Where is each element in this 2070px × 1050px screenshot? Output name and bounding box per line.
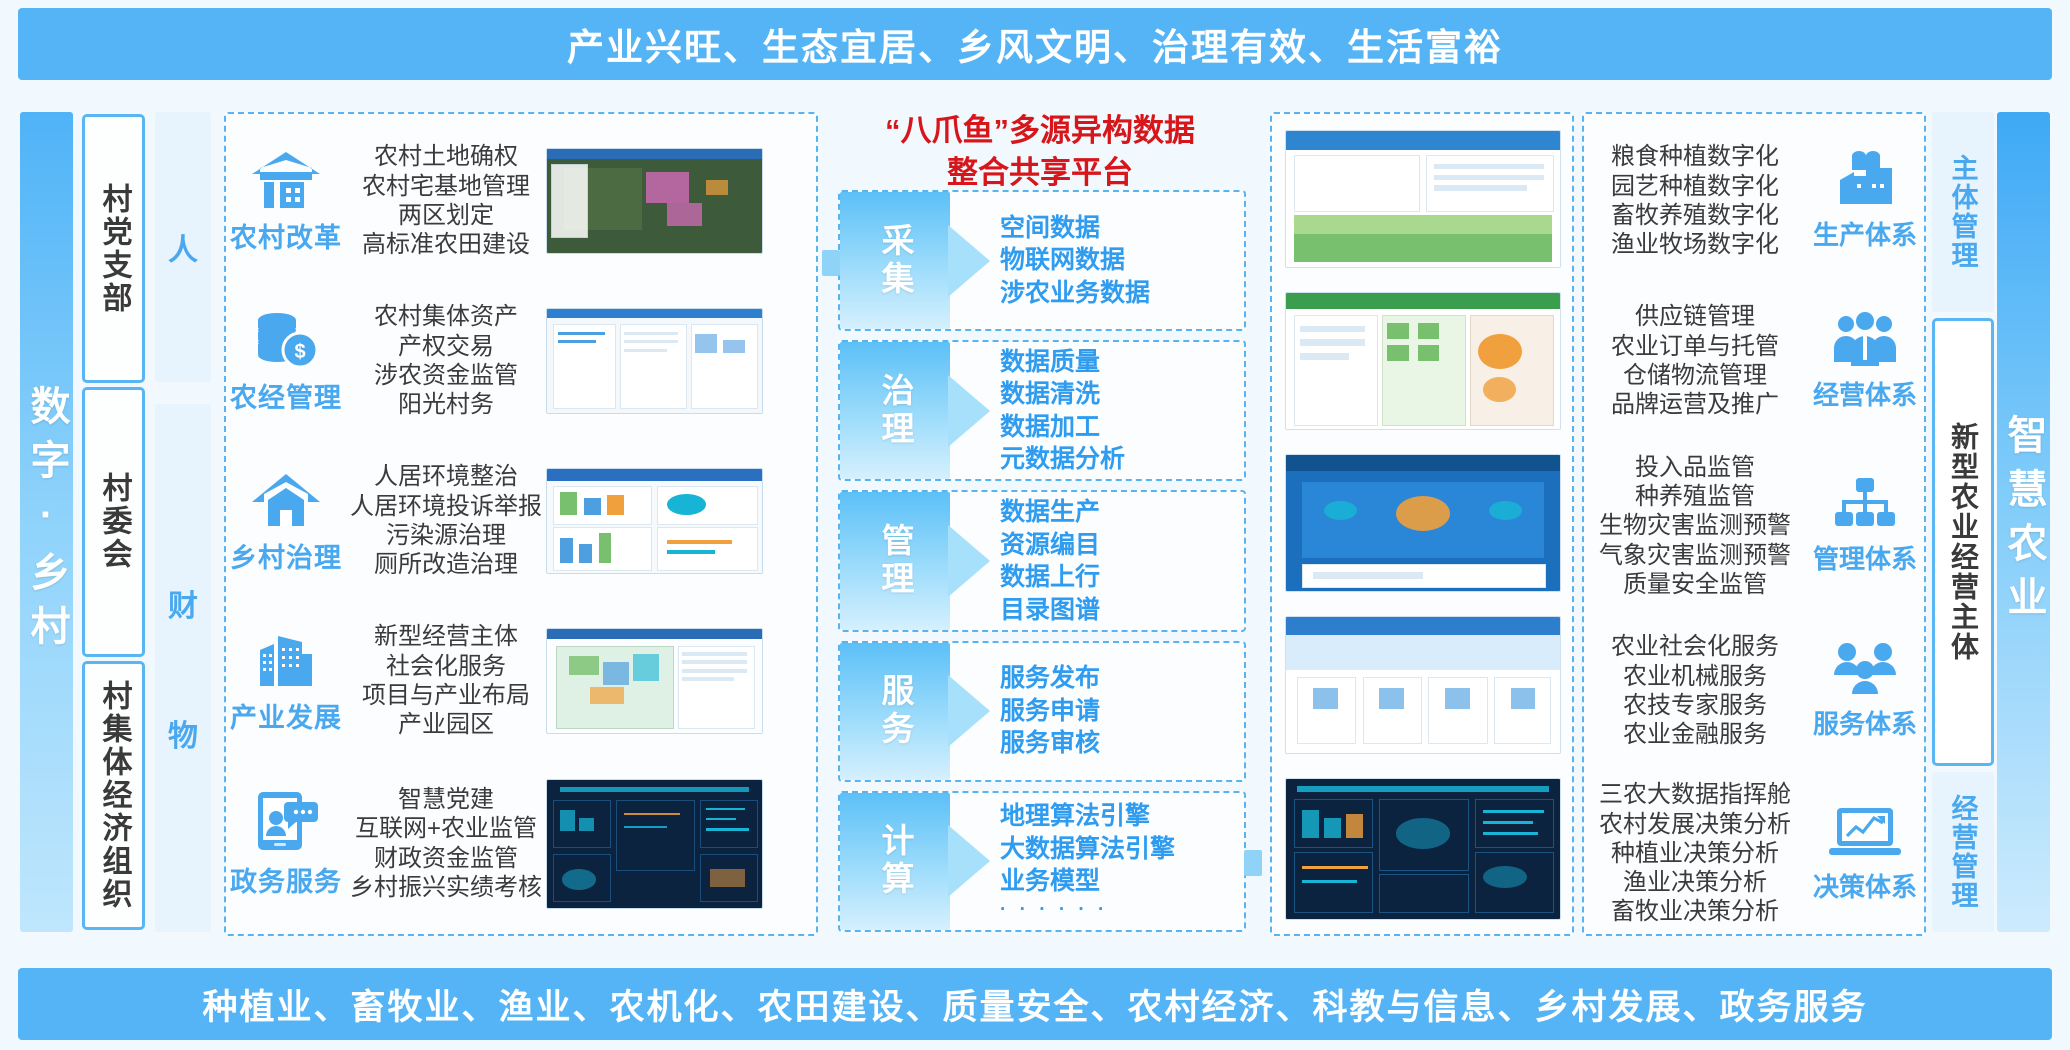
system-item: 种植业决策分析 bbox=[1584, 839, 1806, 868]
top-banner: 产业兴旺、生态宜居、乡风文明、治理有效、生活富裕 bbox=[18, 8, 2052, 80]
org-boxes-column: 村党支部 村委会 村集体经济组织 bbox=[82, 112, 145, 932]
org-box-collective-economy[interactable]: 村集体经济组织 bbox=[82, 661, 145, 930]
screenshot-thumbnail-agri-portal[interactable] bbox=[1285, 130, 1561, 268]
step-item: 数据质量 bbox=[1000, 346, 1244, 379]
module-icon-wrap: 农村改革 bbox=[226, 148, 346, 255]
step-item: 服务审核 bbox=[1000, 727, 1244, 760]
module-row-agri-economy[interactable]: $ 农经管理 农村集体资产 产权交易 涉农资金监管 阳光村务 bbox=[226, 286, 816, 436]
connector-left bbox=[822, 250, 840, 276]
bottom-banner-text: 种植业、畜牧业、渔业、农机化、农田建设、质量安全、农村经济、科教与信息、乡村发展… bbox=[202, 979, 1867, 1030]
step-tab-label: 服务 bbox=[871, 673, 919, 749]
step-items: 数据质量 数据清洗 数据加工 元数据分析 bbox=[950, 342, 1244, 479]
right-label-operation-management: 经营管理 bbox=[1932, 772, 1994, 932]
screenshot-thumbnail-big-data-cockpit[interactable] bbox=[1285, 778, 1561, 920]
module-item: 农村土地确权 bbox=[346, 142, 546, 171]
step-tab-label: 管理 bbox=[871, 523, 919, 599]
arrow-right-icon bbox=[948, 525, 990, 597]
arrow-right-icon bbox=[948, 675, 990, 747]
module-item: 产业园区 bbox=[346, 710, 546, 739]
module-item: 互联网+农业监管 bbox=[346, 814, 546, 843]
step-item: 大数据算法引擎 bbox=[1000, 833, 1244, 866]
people-group-icon bbox=[1830, 310, 1900, 370]
step-tab: 计算 bbox=[840, 793, 950, 930]
system-items: 供应链管理 农业订单与托管 仓储物流管理 品牌运营及推广 bbox=[1584, 302, 1806, 419]
arrow-right-icon bbox=[948, 825, 990, 897]
resource-label: 人 bbox=[168, 225, 198, 269]
system-item: 气象灾害监测预警 bbox=[1584, 541, 1806, 570]
step-item: 数据清洗 bbox=[1000, 378, 1244, 411]
org-box-party-branch[interactable]: 村党支部 bbox=[82, 114, 145, 383]
screenshot-thumbnail-service-platform[interactable] bbox=[1285, 616, 1561, 754]
system-item: 渔业决策分析 bbox=[1584, 868, 1806, 897]
agri-systems-panel: 粮食种植数字化 园艺种植数字化 畜牧养殖数字化 渔业牧场数字化 生产体系 bbox=[1582, 112, 1926, 936]
step-item: 目录图谱 bbox=[1000, 594, 1244, 627]
step-items: 空间数据 物联网数据 涉农业务数据 bbox=[950, 192, 1244, 329]
system-name: 经营体系 bbox=[1813, 375, 1917, 412]
system-item: 农业金融服务 bbox=[1584, 720, 1806, 749]
module-row-industry-development[interactable]: 产业发展 新型经营主体 社会化服务 项目与产业布局 产业园区 bbox=[226, 606, 816, 756]
system-row-production[interactable]: 粮食种植数字化 园艺种植数字化 畜牧养殖数字化 渔业牧场数字化 生产体系 bbox=[1584, 126, 1924, 276]
system-items: 农业社会化服务 农业机械服务 农技专家服务 农业金融服务 bbox=[1584, 632, 1806, 749]
module-item: 产权交易 bbox=[346, 332, 546, 361]
rural-modules-panel: 农村改革 农村土地确权 农村宅基地管理 两区划定 高标准农田建设 bbox=[224, 112, 818, 936]
step-collect[interactable]: 采集 空间数据 物联网数据 涉农业务数据 bbox=[838, 190, 1246, 331]
system-item: 供应链管理 bbox=[1584, 302, 1806, 331]
system-item: 三农大数据指挥舱 bbox=[1584, 780, 1806, 809]
system-item: 园艺种植数字化 bbox=[1584, 172, 1806, 201]
svg-text:$: $ bbox=[294, 341, 305, 363]
module-items: 农村土地确权 农村宅基地管理 两区划定 高标准农田建设 bbox=[346, 142, 546, 259]
module-item: 智慧党建 bbox=[346, 785, 546, 814]
buildings-icon bbox=[250, 628, 322, 690]
factory-icon bbox=[1830, 150, 1900, 210]
system-item: 生物灾害监测预警 bbox=[1584, 511, 1806, 540]
system-item: 品牌运营及推广 bbox=[1584, 390, 1806, 419]
module-item: 厕所改造治理 bbox=[346, 550, 546, 579]
laptop-chart-icon bbox=[1827, 804, 1903, 862]
right-label-subject-management: 主体管理 bbox=[1932, 112, 1994, 312]
module-item: 人居环境投诉举报 bbox=[346, 492, 546, 521]
system-row-service[interactable]: 农业社会化服务 农业机械服务 农技专家服务 农业金融服务 服务体系 bbox=[1584, 616, 1924, 766]
module-row-rural-governance[interactable]: 乡村治理 人居环境整治 人居环境投诉举报 污染源治理 厕所改造治理 bbox=[226, 446, 816, 596]
module-icon-wrap: $ 农经管理 bbox=[226, 308, 346, 415]
step-item: 资源编目 bbox=[1000, 529, 1244, 562]
connector-right bbox=[1244, 850, 1262, 876]
system-name: 管理体系 bbox=[1813, 539, 1917, 576]
screenshot-thumbnail-produce-market[interactable] bbox=[1285, 292, 1561, 430]
system-icon-wrap: 生产体系 bbox=[1806, 150, 1924, 252]
left-brand-label: 数字·乡村 bbox=[18, 385, 76, 659]
step-tab: 管理 bbox=[840, 492, 950, 629]
arrow-right-icon bbox=[948, 375, 990, 447]
module-name: 产业发展 bbox=[230, 696, 342, 735]
screenshot-thumbnail-gis-map[interactable] bbox=[546, 628, 763, 734]
step-manage[interactable]: 管理 数据生产 资源编目 数据上行 目录图谱 bbox=[838, 490, 1246, 631]
screenshot-thumbnail-satellite-map[interactable] bbox=[546, 148, 763, 254]
screenshot-thumbnail-stats-dashboard[interactable] bbox=[546, 468, 763, 574]
system-item: 仓储物流管理 bbox=[1584, 361, 1806, 390]
module-item: 两区划定 bbox=[346, 201, 546, 230]
module-row-rural-reform[interactable]: 农村改革 农村土地确权 农村宅基地管理 两区划定 高标准农田建设 bbox=[226, 126, 816, 276]
system-row-decision[interactable]: 三农大数据指挥舱 农村发展决策分析 种植业决策分析 渔业决策分析 畜牧业决策分析… bbox=[1584, 776, 1924, 931]
system-item: 农技专家服务 bbox=[1584, 691, 1806, 720]
step-item: 服务申请 bbox=[1000, 695, 1244, 728]
module-item: 污染源治理 bbox=[346, 521, 546, 550]
step-item: 涉农业务数据 bbox=[1000, 277, 1244, 310]
module-item: 乡村振兴实绩考核 bbox=[346, 873, 546, 902]
org-box-village-committee[interactable]: 村委会 bbox=[82, 387, 145, 656]
org-box-label: 村集体经济组织 bbox=[92, 680, 136, 911]
system-item: 农业订单与托管 bbox=[1584, 332, 1806, 361]
system-item: 粮食种植数字化 bbox=[1584, 142, 1806, 171]
step-item-ellipsis: · · · · · · bbox=[1000, 898, 1244, 923]
module-item: 高标准农田建设 bbox=[346, 230, 546, 259]
step-item: 元数据分析 bbox=[1000, 443, 1244, 476]
module-items: 农村集体资产 产权交易 涉农资金监管 阳光村务 bbox=[346, 302, 546, 419]
system-item: 渔业牧场数字化 bbox=[1584, 230, 1806, 259]
module-icon-wrap: 乡村治理 bbox=[226, 468, 346, 575]
org-chart-icon bbox=[1830, 476, 1900, 534]
bottom-banner: 种植业、畜牧业、渔业、农机化、农田建设、质量安全、农村经济、科教与信息、乡村发展… bbox=[18, 968, 2052, 1040]
tablet-chat-icon bbox=[250, 788, 322, 854]
right-brand-label: 智慧农业 bbox=[1995, 414, 2053, 630]
module-item: 阳光村务 bbox=[346, 390, 546, 419]
system-name: 决策体系 bbox=[1813, 867, 1917, 904]
module-item: 社会化服务 bbox=[346, 652, 546, 681]
right-label-text: 经营管理 bbox=[1944, 794, 1983, 910]
platform-steps: 采集 空间数据 物联网数据 涉农业务数据 治理 数据质量 数据清洗 数据加工 元… bbox=[838, 190, 1246, 932]
step-items: 地理算法引擎 大数据算法引擎 业务模型 · · · · · · bbox=[950, 793, 1244, 930]
step-tab: 服务 bbox=[840, 643, 950, 780]
module-items: 人居环境整治 人居环境投诉举报 污染源治理 厕所改造治理 bbox=[346, 462, 546, 579]
right-box-text: 新型农业经营主体 bbox=[1943, 422, 1983, 662]
step-compute[interactable]: 计算 地理算法引擎 大数据算法引擎 业务模型 · · · · · · bbox=[838, 791, 1246, 932]
step-tab-label: 计算 bbox=[871, 823, 919, 899]
top-banner-text: 产业兴旺、生态宜居、乡风文明、治理有效、生活富裕 bbox=[567, 17, 1503, 71]
module-name: 政务服务 bbox=[230, 860, 342, 899]
system-item: 畜牧养殖数字化 bbox=[1584, 201, 1806, 230]
step-items: 数据生产 资源编目 数据上行 目录图谱 bbox=[950, 492, 1244, 629]
platform-title-line1: “八爪鱼”多源异构数据 bbox=[840, 110, 1240, 152]
step-service[interactable]: 服务 服务发布 服务申请 服务审核 bbox=[838, 641, 1246, 782]
system-name: 生产体系 bbox=[1813, 215, 1917, 252]
coins-dollar-icon: $ bbox=[250, 308, 322, 370]
resource-label: 财 bbox=[168, 581, 198, 625]
right-label-text: 主体管理 bbox=[1944, 154, 1983, 270]
resource-people: 人 bbox=[155, 112, 211, 382]
step-item: 数据生产 bbox=[1000, 496, 1244, 529]
resource-gap bbox=[155, 382, 211, 404]
org-box-label: 村委会 bbox=[92, 472, 136, 571]
module-items: 新型经营主体 社会化服务 项目与产业布局 产业园区 bbox=[346, 622, 546, 739]
system-item: 农村发展决策分析 bbox=[1584, 810, 1806, 839]
platform-title: “八爪鱼”多源异构数据 整合共享平台 bbox=[840, 110, 1240, 194]
system-items: 三农大数据指挥舱 农村发展决策分析 种植业决策分析 渔业决策分析 畜牧业决策分析 bbox=[1584, 780, 1806, 926]
platform-screenshots-panel bbox=[1270, 112, 1574, 936]
home-icon bbox=[250, 468, 322, 530]
right-brand-bar: 智慧农业 bbox=[1997, 112, 2050, 932]
module-items: 智慧党建 互联网+农业监管 财政资金监管 乡村振兴实绩考核 bbox=[346, 785, 546, 902]
system-icon-wrap: 决策体系 bbox=[1806, 804, 1924, 904]
module-item: 农村集体资产 bbox=[346, 302, 546, 331]
module-item: 项目与产业布局 bbox=[346, 681, 546, 710]
infographic-page: 产业兴旺、生态宜居、乡风文明、治理有效、生活富裕 种植业、畜牧业、渔业、农机化、… bbox=[0, 0, 2070, 1050]
step-items: 服务发布 服务申请 服务审核 bbox=[950, 643, 1244, 780]
step-item: 空间数据 bbox=[1000, 212, 1244, 245]
system-icon-wrap: 经营体系 bbox=[1806, 310, 1924, 412]
house-pillars-icon bbox=[250, 148, 322, 210]
system-item: 种养殖监管 bbox=[1584, 482, 1806, 511]
module-item: 人居环境整治 bbox=[346, 462, 546, 491]
resource-finance-goods: 财 物 bbox=[155, 404, 211, 932]
step-tab: 采集 bbox=[840, 192, 950, 329]
system-items: 投入品监管 种养殖监管 生物灾害监测预警 气象灾害监测预警 质量安全监管 bbox=[1584, 453, 1806, 599]
screenshot-thumbnail-dark-command-center[interactable] bbox=[546, 779, 763, 909]
step-tab-label: 治理 bbox=[871, 373, 919, 449]
org-box-label: 村党支部 bbox=[92, 183, 136, 315]
system-row-management[interactable]: 投入品监管 种养殖监管 生物灾害监测预警 气象灾害监测预警 质量安全监管 bbox=[1584, 446, 1924, 606]
system-items: 粮食种植数字化 园艺种植数字化 畜牧养殖数字化 渔业牧场数字化 bbox=[1584, 142, 1806, 259]
system-item: 农业社会化服务 bbox=[1584, 632, 1806, 661]
three-users-icon bbox=[1830, 641, 1900, 699]
system-icon-wrap: 服务体系 bbox=[1806, 641, 1924, 741]
screenshot-thumbnail-dashboard-tables[interactable] bbox=[546, 308, 763, 414]
right-labels-column: 主体管理 新型农业经营主体 经营管理 bbox=[1932, 112, 1994, 932]
step-item: 数据加工 bbox=[1000, 411, 1244, 444]
step-item: 业务模型 bbox=[1000, 865, 1244, 898]
system-item: 投入品监管 bbox=[1584, 453, 1806, 482]
step-item: 服务发布 bbox=[1000, 662, 1244, 695]
resource-column: 人 财 物 bbox=[155, 112, 211, 932]
module-item: 涉农资金监管 bbox=[346, 361, 546, 390]
step-item: 数据上行 bbox=[1000, 561, 1244, 594]
module-icon-wrap: 政务服务 bbox=[226, 788, 346, 899]
module-icon-wrap: 产业发展 bbox=[226, 628, 346, 735]
step-govern[interactable]: 治理 数据质量 数据清洗 数据加工 元数据分析 bbox=[838, 340, 1246, 481]
system-icon-wrap: 管理体系 bbox=[1806, 476, 1924, 576]
module-item: 新型经营主体 bbox=[346, 622, 546, 651]
system-item: 畜牧业决策分析 bbox=[1584, 897, 1806, 926]
module-name: 乡村治理 bbox=[230, 536, 342, 575]
step-item: 地理算法引擎 bbox=[1000, 800, 1244, 833]
right-box-new-agri-entity[interactable]: 新型农业经营主体 bbox=[1932, 318, 1994, 766]
module-item: 财政资金监管 bbox=[346, 844, 546, 873]
system-name: 服务体系 bbox=[1813, 704, 1917, 741]
arrow-right-icon bbox=[948, 225, 990, 297]
left-brand-bar: 数字·乡村 bbox=[20, 112, 73, 932]
step-item: 物联网数据 bbox=[1000, 244, 1244, 277]
module-row-government-service[interactable]: 政务服务 智慧党建 互联网+农业监管 财政资金监管 乡村振兴实绩考核 bbox=[226, 766, 816, 921]
module-name: 农村改革 bbox=[230, 216, 342, 255]
system-item: 质量安全监管 bbox=[1584, 570, 1806, 599]
screenshot-thumbnail-food-safety-portal[interactable] bbox=[1285, 454, 1561, 592]
step-tab: 治理 bbox=[840, 342, 950, 479]
module-item: 农村宅基地管理 bbox=[346, 172, 546, 201]
step-tab-label: 采集 bbox=[871, 223, 919, 299]
system-row-operation[interactable]: 供应链管理 农业订单与托管 仓储物流管理 品牌运营及推广 经营体系 bbox=[1584, 286, 1924, 436]
resource-label: 物 bbox=[168, 711, 198, 755]
platform-title-line2: 整合共享平台 bbox=[840, 152, 1240, 194]
system-item: 农业机械服务 bbox=[1584, 662, 1806, 691]
module-name: 农经管理 bbox=[230, 376, 342, 415]
